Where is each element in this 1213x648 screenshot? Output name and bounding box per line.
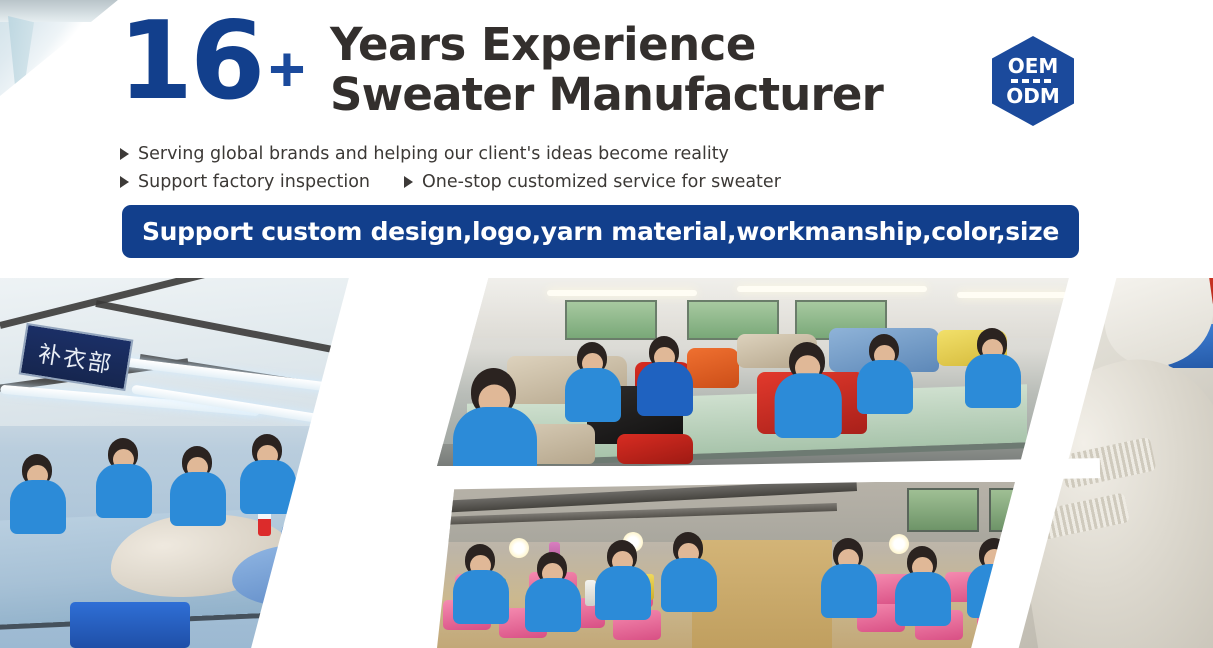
headline: Years Experience Sweater Manufacturer — [330, 20, 883, 121]
task-lamp — [509, 538, 529, 558]
worker-uniform — [96, 464, 152, 518]
bullet-item: Support factory inspection — [120, 172, 370, 192]
bullet-text: Serving global brands and helping our cl… — [138, 144, 729, 164]
storage-bin — [70, 602, 190, 648]
worker-uniform — [965, 354, 1021, 408]
dashed-divider-icon — [1011, 79, 1055, 83]
factory-photo-collage: 补衣部 — [0, 276, 1213, 648]
worker-uniform — [240, 460, 296, 514]
worker-uniform — [281, 504, 371, 590]
bullet-text: Support factory inspection — [138, 172, 370, 192]
worker-uniform — [775, 373, 842, 438]
window — [907, 488, 979, 532]
worker-uniform — [595, 566, 651, 620]
odm-label: ODM — [1006, 86, 1060, 106]
ceiling-light — [957, 292, 1067, 298]
worker-uniform — [857, 360, 913, 414]
bullet-row-2: Support factory inspection One-stop cust… — [120, 168, 781, 196]
ceiling-light — [547, 290, 697, 296]
headline-line-1: Years Experience — [330, 20, 883, 70]
window — [565, 300, 657, 340]
bullet-row-1: Serving global brands and helping our cl… — [120, 140, 781, 168]
triangle-right-icon — [120, 148, 129, 160]
years-count: 16 — [118, 18, 262, 107]
promo-banner: 16 + Years Experience Sweater Manufactur… — [0, 0, 1213, 648]
worker-head — [378, 444, 408, 476]
headline-line-2: Sweater Manufacturer — [330, 70, 883, 120]
custom-service-bar-text: Support custom design,logo,yarn material… — [142, 217, 1059, 246]
worker-uniform — [366, 470, 422, 524]
photo-top-middle-garment-sorting — [437, 276, 1075, 466]
ceiling-light — [737, 286, 927, 292]
oem-odm-badge: OEM ODM — [992, 36, 1074, 126]
bullet-text: One-stop customized service for sweater — [422, 172, 781, 192]
bullet-item: One-stop customized service for sweater — [404, 172, 781, 192]
photo-left-factory-sewing-line: 补衣部 — [0, 276, 470, 648]
worker-face — [383, 455, 404, 476]
banner-header: 16 + Years Experience Sweater Manufactur… — [0, 0, 1213, 276]
worker-uniform — [661, 558, 717, 612]
garment-pile — [617, 434, 693, 464]
photo-bottom-middle-sewing-machines — [437, 482, 1075, 648]
bullet-item: Serving global brands and helping our cl… — [120, 144, 729, 164]
feature-bullets: Serving global brands and helping our cl… — [120, 140, 781, 196]
worker-uniform — [453, 407, 537, 466]
triangle-right-icon — [120, 176, 129, 188]
plus-sign-icon: + — [268, 37, 305, 101]
task-lamp — [889, 534, 909, 554]
corner-post-shape — [8, 16, 34, 94]
custom-service-bar: Support custom design,logo,yarn material… — [122, 205, 1079, 258]
worker-uniform — [10, 480, 66, 534]
garment-pile — [687, 348, 739, 388]
years-experience-number: 16 + — [118, 18, 306, 107]
worker-uniform — [895, 572, 951, 626]
corner-photo-fragment — [0, 0, 120, 96]
worker-uniform — [637, 362, 693, 416]
oem-odm-badge-content: OEM ODM — [992, 36, 1074, 126]
oem-label: OEM — [1008, 56, 1059, 76]
triangle-right-icon — [404, 176, 413, 188]
worker-uniform — [821, 564, 877, 618]
worker-uniform — [565, 368, 621, 422]
worker-uniform — [170, 472, 226, 526]
worker-uniform — [453, 570, 509, 624]
worker-uniform — [525, 578, 581, 632]
